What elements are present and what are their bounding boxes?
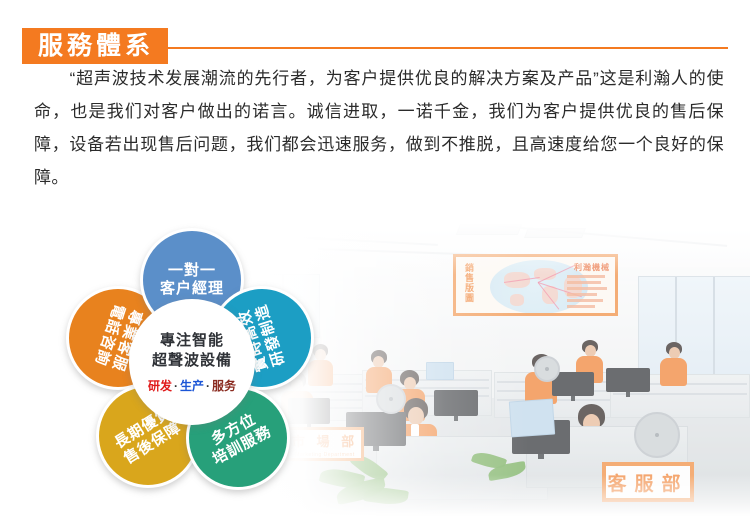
petal-line-2: 客户經理: [160, 280, 224, 298]
sign-customer-service-department: 客服部: [602, 462, 694, 502]
center-line-2: 超聲波設備: [152, 351, 232, 371]
computer-monitor: [606, 368, 650, 392]
tag-production: 生产: [180, 379, 204, 393]
tag-research: 研发: [148, 379, 172, 393]
computer-monitor: [434, 390, 478, 416]
page-root: 服務體系 “超声波技术发展潮流的先行者，为客户提供优良的解决方案及产品”这是利瀚…: [0, 0, 750, 516]
center-headline: 專注智能 超聲波設備: [152, 331, 232, 371]
office-plant: [316, 454, 426, 514]
office-photo-scene: 銷售版圖 利瀚機械: [258, 222, 750, 516]
desk-fan: [534, 356, 560, 382]
center-line-1: 專注智能: [152, 331, 232, 351]
tag-service: 服务: [212, 379, 236, 393]
section-header: 服務體系: [0, 14, 750, 50]
map-vertical-title: 銷售版圖: [461, 263, 474, 303]
office-plant: [472, 444, 542, 484]
intro-paragraph: “超声波技术发展潮流的先行者，为客户提供优良的解决方案及产品”这是利瀚人的使命，…: [34, 62, 724, 194]
computer-monitor: [552, 372, 594, 396]
section-service-visual: 銷售版圖 利瀚機械: [0, 222, 750, 516]
office-photo: 銷售版圖 利瀚機械: [258, 222, 750, 516]
service-flower-diagram: 專業客服 電話咨詢 一對一 客户經理 實時高效 研發制造 長期優質: [60, 224, 330, 509]
map-legend: [567, 275, 609, 311]
petal-line-1: 一對一: [160, 262, 224, 280]
center-tagline: 研发·生产·服务: [148, 377, 236, 394]
page-title: 服務體系: [22, 28, 168, 64]
wall-map-poster: 銷售版圖 利瀚機械: [453, 254, 618, 316]
map-brand-label: 利瀚機械: [574, 262, 610, 273]
office-window: [638, 276, 750, 378]
desk-fan: [376, 384, 406, 414]
tag-separator: ·: [172, 379, 180, 393]
document-stack: [509, 399, 555, 438]
tag-separator: ·: [204, 379, 212, 393]
desk-fan: [634, 412, 680, 458]
flower-center-badge: 專注智能 超聲波設備 研发·生产·服务: [129, 299, 255, 425]
office-worker: [658, 342, 688, 386]
document-stack: [426, 362, 454, 380]
sign-label-cn: 客服部: [607, 469, 688, 496]
